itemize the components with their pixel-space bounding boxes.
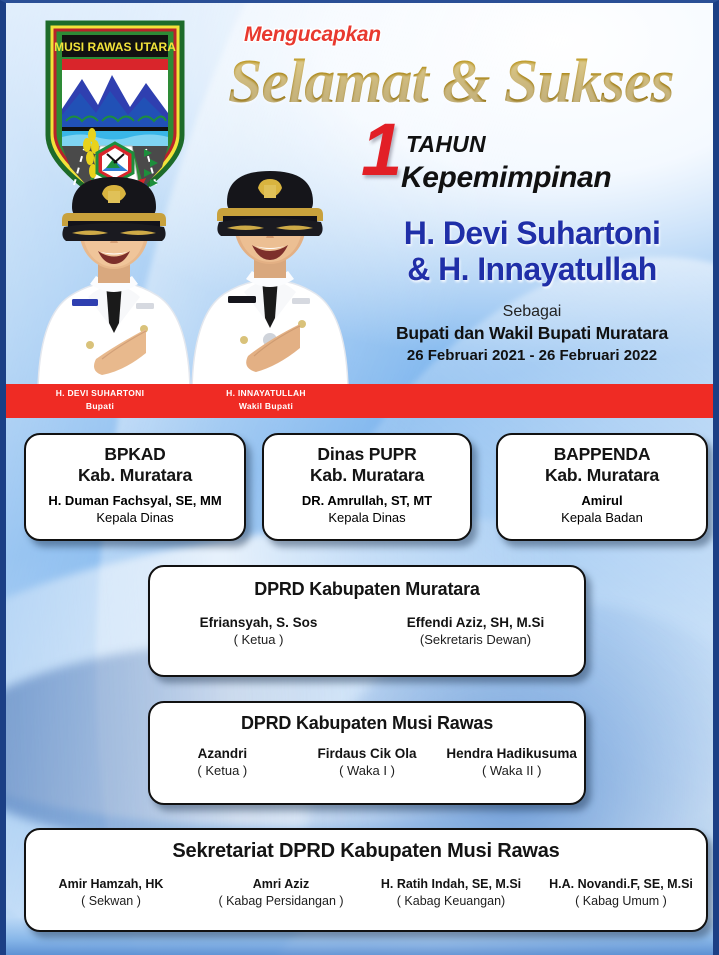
card-dprd-muratara-title: DPRD Kabupaten Muratara [150,579,584,600]
member-item: Firdaus Cik Ola ( Waka I ) [295,745,440,779]
card-bpkad-title-2: Kab. Muratara [26,465,244,486]
member-name: H.A. Novandi.F, SE, M.Si [540,876,702,893]
anniversary-subject: Kepemimpinan [401,161,611,195]
member-item: Efriansyah, S. Sos ( Ketua ) [150,614,367,648]
greeting-text: Mengucapkan [244,23,381,47]
member-role: ( Waka II ) [443,762,580,779]
member-item: H.A. Novandi.F, SE, M.Si ( Kabag Umum ) [536,876,706,910]
member-name: Amri Aziz [200,876,362,893]
card-bappenda-person: Amirul [498,493,706,508]
congratulatory-poster: MUSI RAWAS UTARA [0,0,719,955]
hero-section: MUSI RAWAS UTARA [6,3,713,418]
member-role: ( Waka I ) [299,762,436,779]
caption-bupati-name: H. DEVI SUHARTONI [56,388,145,398]
card-dprd-musi-rawas: DPRD Kabupaten Musi Rawas Azandri ( Ketu… [148,701,586,805]
honoree-names: H. Devi Suhartoni & H. Innayatullah [346,215,718,287]
member-item: Hendra Hadikusuma ( Waka II ) [439,745,584,779]
member-name: Amir Hamzah, HK [30,876,192,893]
member-item: Azandri ( Ketua ) [150,745,295,779]
member-role: (Sekretaris Dewan) [371,631,580,648]
anniversary-unit: TAHUN [406,131,486,158]
card-pupr-title-2: Kab. Muratara [264,465,470,486]
card-bpkad-role: Kepala Dinas [26,510,244,525]
member-name: Azandri [154,745,291,762]
member-role: ( Sekwan ) [30,893,192,910]
caption-bupati: H. DEVI SUHARTONI Bupati [12,387,188,413]
svg-text:MUSI RAWAS UTARA: MUSI RAWAS UTARA [54,40,176,54]
member-name: Hendra Hadikusuma [443,745,580,762]
main-headline: Selamat & Sukses [228,51,674,113]
honoree-period: 26 Februari 2021 - 26 Februari 2022 [346,347,718,364]
card-pupr-role: Kepala Dinas [264,510,470,525]
card-bappenda: BAPPENDA Kab. Muratara Amirul Kepala Bad… [496,433,708,541]
card-sekretariat-dprd: Sekretariat DPRD Kabupaten Musi Rawas Am… [24,828,708,932]
photo-wakil-bupati [184,126,356,388]
member-role: ( Kabag Umum ) [540,893,702,910]
card-pupr-title-1: Dinas PUPR [264,444,470,465]
card-dprd-musi-rawas-members: Azandri ( Ketua ) Firdaus Cik Ola ( Waka… [150,745,584,779]
caption-wakil-role: Wakil Bupati [166,400,366,413]
caption-wakil-name: H. INNAYATULLAH [226,388,306,398]
member-item: H. Ratih Indah, SE, M.Si ( Kabag Keuanga… [366,876,536,910]
anniversary-number: 1 [361,113,402,187]
card-dprd-muratara: DPRD Kabupaten Muratara Efriansyah, S. S… [148,565,586,677]
card-dprd-musi-rawas-title: DPRD Kabupaten Musi Rawas [150,713,584,734]
officials-photo-group [6,123,366,388]
member-item: Effendi Aziz, SH, M.Si (Sekretaris Dewan… [367,614,584,648]
honoree-name-1: H. Devi Suhartoni [346,215,718,251]
member-name: H. Ratih Indah, SE, M.Si [370,876,532,893]
card-pupr-person: DR. Amrullah, ST, MT [264,493,470,508]
honoree-position: Bupati dan Wakil Bupati Muratara [346,323,718,344]
member-role: ( Ketua ) [154,631,363,648]
member-name: Firdaus Cik Ola [299,745,436,762]
honoree-name-2: & H. Innayatullah [346,251,718,287]
card-dprd-muratara-members: Efriansyah, S. Sos ( Ketua ) Effendi Azi… [150,614,584,648]
member-name: Efriansyah, S. Sos [154,614,363,631]
card-bappenda-title-2: Kab. Muratara [498,465,706,486]
card-bpkad: BPKAD Kab. Muratara H. Duman Fachsyal, S… [24,433,246,541]
card-sekretariat-title: Sekretariat DPRD Kabupaten Musi Rawas [26,841,706,862]
member-role: ( Kabag Persidangan ) [200,893,362,910]
as-label: Sebagai [346,303,718,321]
member-item: Amir Hamzah, HK ( Sekwan ) [26,876,196,910]
member-item: Amri Aziz ( Kabag Persidangan ) [196,876,366,910]
photo-bupati [28,133,200,388]
member-role: ( Ketua ) [154,762,291,779]
caption-wakil-bupati: H. INNAYATULLAH Wakil Bupati [166,387,366,413]
member-name: Effendi Aziz, SH, M.Si [371,614,580,631]
card-sekretariat-members: Amir Hamzah, HK ( Sekwan ) Amri Aziz ( K… [26,876,706,910]
caption-bupati-role: Bupati [12,400,188,413]
card-bappenda-role: Kepala Badan [498,510,706,525]
member-role: ( Kabag Keuangan) [370,893,532,910]
card-dinas-pupr: Dinas PUPR Kab. Muratara DR. Amrullah, S… [262,433,472,541]
photo-caption-bar: H. DEVI SUHARTONI Bupati H. INNAYATULLAH… [6,384,713,418]
card-bpkad-person: H. Duman Fachsyal, SE, MM [26,493,244,508]
card-bpkad-title-1: BPKAD [26,444,244,465]
card-bappenda-title-1: BAPPENDA [498,444,706,465]
